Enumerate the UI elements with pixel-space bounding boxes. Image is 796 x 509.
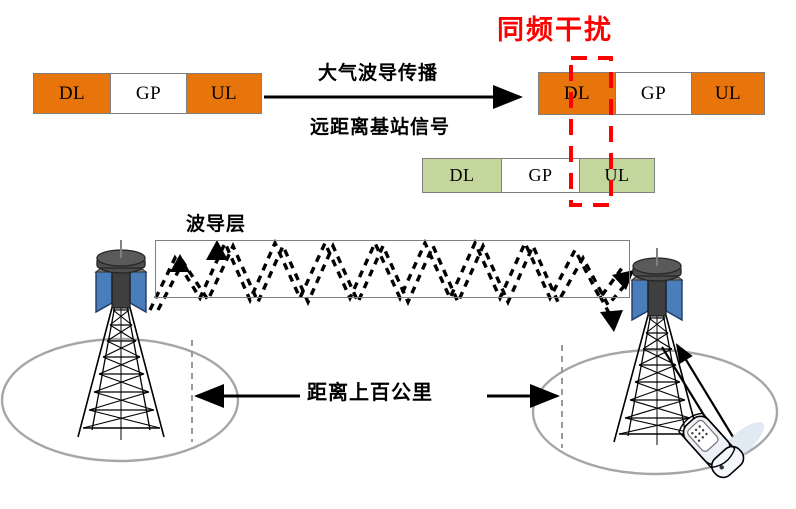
flip-phone-icon — [676, 384, 774, 482]
interference-annotation: 同频干扰 — [497, 8, 613, 47]
frame-slot-dl: DL — [34, 74, 110, 113]
frame-victim-base-station: DL GP UL — [422, 158, 655, 193]
diagram-canvas: DL GP UL DL GP UL DL GP UL 同频干扰 大气波导传播 远… — [0, 0, 796, 509]
frame-slot-gp: GP — [615, 73, 691, 114]
propagation-label-bottom: 远距离基站信号 — [310, 112, 450, 139]
frame-slot-dl: DL — [423, 159, 501, 192]
frame-slot-gp: GP — [501, 159, 579, 192]
distance-label: 距离上百公里 — [307, 376, 433, 405]
waveguide-layer-label: 波导层 — [186, 209, 246, 236]
frame-slot-ul: UL — [691, 73, 764, 114]
frame-far-base-station: DL GP UL — [538, 72, 765, 115]
frame-slot-gp: GP — [110, 74, 186, 113]
frame-slot-ul: UL — [579, 159, 654, 192]
waveguide-layer-box — [155, 240, 630, 298]
frame-slot-ul: UL — [186, 74, 261, 113]
frame-local-base-station: DL GP UL — [33, 73, 262, 114]
propagation-label-top: 大气波导传播 — [318, 58, 438, 85]
frame-slot-dl: DL — [539, 73, 615, 114]
